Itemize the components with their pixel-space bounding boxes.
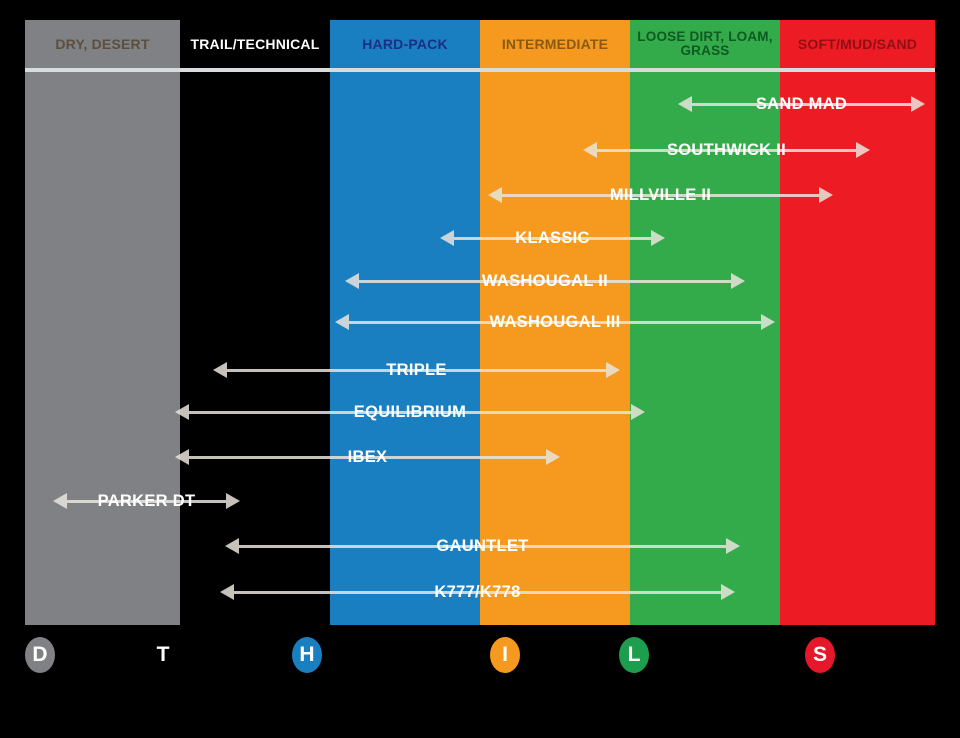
tire-row: KLASSIC (440, 225, 665, 251)
header-separator-line (25, 68, 935, 72)
arrow-right-icon (726, 538, 740, 554)
legend-chip-s[interactable]: S (805, 637, 835, 673)
tire-name-label: MILLVILLE II (601, 186, 720, 205)
terrain-header-inter: INTERMEDIATE (480, 20, 630, 68)
arrow-left-icon (335, 314, 349, 330)
arrow-right-icon (606, 362, 620, 378)
tire-row: WASHOUGAL II (345, 268, 745, 294)
arrow-left-icon (53, 493, 67, 509)
tire-name-label: WASHOUGAL III (480, 313, 629, 332)
arrow-left-icon (583, 142, 597, 158)
arrow-left-icon (488, 187, 502, 203)
terrain-header-hard: HARD-PACK (330, 20, 480, 68)
tire-row: TRIPLE (213, 357, 620, 383)
arrow-left-icon (220, 584, 234, 600)
tire-name-label: WASHOUGAL II (473, 272, 617, 291)
arrow-left-icon (225, 538, 239, 554)
tire-name-label: K777/K778 (425, 583, 529, 602)
legend-chip-l[interactable]: L (619, 637, 649, 673)
tire-name-label: IBEX (339, 448, 397, 467)
legend-chip-h[interactable]: H (292, 637, 322, 673)
tire-name-label: SOUTHWICK II (658, 141, 795, 160)
terrain-header-trail: TRAIL/TECHNICAL (180, 20, 330, 68)
arrow-left-icon (175, 404, 189, 420)
arrow-left-icon (345, 273, 359, 289)
arrow-right-icon (226, 493, 240, 509)
arrow-right-icon (721, 584, 735, 600)
tire-row: EQUILIBRIUM (175, 399, 645, 425)
arrow-right-icon (631, 404, 645, 420)
tire-row: IBEX (175, 444, 560, 470)
tire-name-label: PARKER DT (89, 492, 205, 511)
tire-row: MILLVILLE II (488, 182, 833, 208)
arrow-right-icon (761, 314, 775, 330)
tire-name-label: SAND MAD (747, 95, 856, 114)
legend-chip-i[interactable]: I (490, 637, 520, 673)
tire-row: GAUNTLET (225, 533, 740, 559)
tire-row: WASHOUGAL III (335, 309, 775, 335)
tire-row: SAND MAD (678, 91, 925, 117)
tire-name-label: GAUNTLET (427, 537, 537, 556)
arrow-right-icon (856, 142, 870, 158)
arrow-left-icon (175, 449, 189, 465)
tire-row: SOUTHWICK II (583, 137, 870, 163)
terrain-chart: DRY, DESERTTRAIL/TECHNICALHARD-PACKINTER… (0, 0, 960, 738)
terrain-header-dry: DRY, DESERT (25, 20, 180, 68)
terrain-header-loose: LOOSE DIRT, LOAM, GRASS (630, 20, 780, 68)
arrow-left-icon (440, 230, 454, 246)
arrow-right-icon (731, 273, 745, 289)
tire-name-label: KLASSIC (506, 229, 599, 248)
arrow-left-icon (213, 362, 227, 378)
tire-row: K777/K778 (220, 579, 735, 605)
tire-name-label: EQUILIBRIUM (345, 403, 475, 422)
terrain-band-dry (25, 20, 180, 625)
arrow-right-icon (911, 96, 925, 112)
arrow-right-icon (819, 187, 833, 203)
arrow-right-icon (651, 230, 665, 246)
arrow-left-icon (678, 96, 692, 112)
legend-chip-d[interactable]: D (25, 637, 55, 673)
arrow-right-icon (546, 449, 560, 465)
terrain-header-soft: SOFT/MUD/SAND (780, 20, 935, 68)
tire-name-label: TRIPLE (377, 361, 455, 380)
tire-row: PARKER DT (53, 488, 240, 514)
legend-chip-t[interactable]: T (148, 637, 178, 673)
